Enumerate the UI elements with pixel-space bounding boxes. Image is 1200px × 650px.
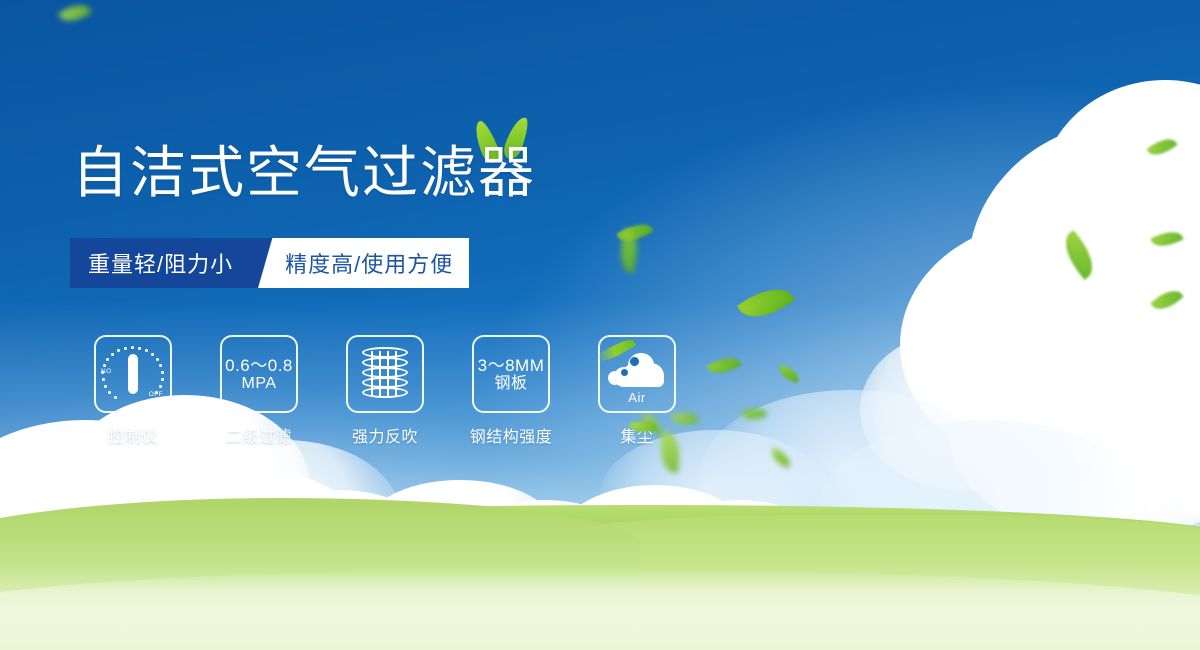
slogan-divider [253,238,279,288]
slogan-left-tag: 重量轻/阻力小 [70,238,253,288]
feature-icon-box: 3～8MM 钢板 [472,335,550,413]
slogan-bar: 重量轻/阻力小 精度高/使用方便 [70,238,469,288]
steel-plate-text-icon: 3～8MM 钢板 [478,356,545,393]
pressure-unit: MPA [225,375,293,393]
feature-list: NO OFF 控制仪 0.6～0.8 MPA 二级过滤 [70,335,700,447]
pressure-range: 0.6～0.8 [225,356,293,375]
pressure-text-icon: 0.6～0.8 MPA [225,356,293,393]
gauge-icon: NO OFF [101,346,165,402]
gauge-off-label: OFF [149,391,163,398]
feature-label: 控制仪 [108,423,158,447]
steel-material: 钢板 [478,375,545,393]
grass-light-sheen [0,560,1200,650]
slogan-right-tag: 精度高/使用方便 [279,238,469,288]
feature-label: 强力反吹 [352,423,418,447]
feature-icon-box: 0.6～0.8 MPA [220,335,298,413]
feature-item-controller[interactable]: NO OFF 控制仪 [70,335,196,447]
feature-item-pressure[interactable]: 0.6～0.8 MPA 二级过滤 [196,335,322,447]
hero-banner: 自洁式空气过滤器 重量轻/阻力小 精度高/使用方便 [0,0,1200,650]
feature-item-backblow[interactable]: 强力反吹 [322,335,448,447]
page-title: 自洁式空气过滤器 [72,145,536,201]
feature-label: 二级过滤 [226,423,292,447]
feature-item-steel[interactable]: 3～8MM 钢板 钢结构强度 [448,335,574,447]
air-cloud-icon: Air [608,347,666,401]
gauge-needle [128,354,138,394]
air-label: Air [608,390,666,405]
feature-icon-box: Air [598,335,676,413]
feature-icon-box [346,335,424,413]
feature-icon-box: NO OFF [94,335,172,413]
spring-coil-icon [357,346,413,402]
steel-thickness: 3～8MM [478,356,545,375]
feature-label: 钢结构强度 [470,423,553,447]
gauge-on-label: NO [101,368,112,375]
